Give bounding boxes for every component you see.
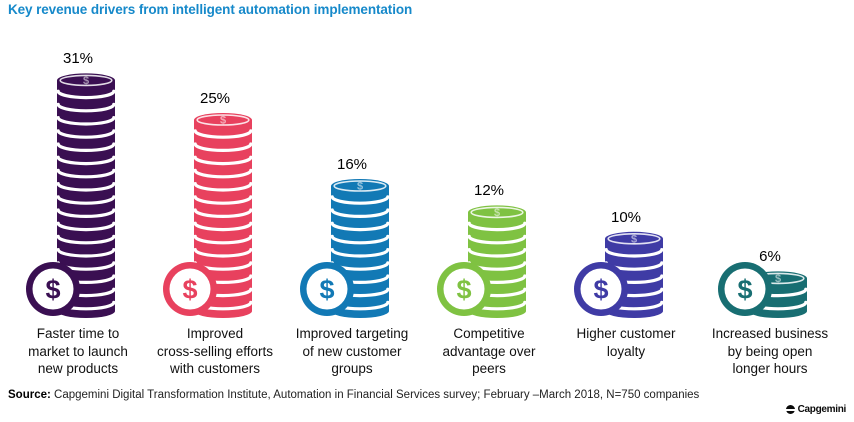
source-label: Source: — [8, 389, 51, 401]
coin-stack-icon: $$ — [8, 22, 148, 322]
category-label-line: cross-selling efforts — [142, 343, 288, 361]
category-label-line: groups — [279, 360, 425, 378]
category-label-line: Improved — [142, 325, 288, 343]
coin-stack: $$ — [8, 22, 148, 322]
svg-text:$: $ — [737, 275, 752, 305]
category-label-line: Faster time to — [5, 325, 151, 343]
coin-stack-icon: $$ — [700, 22, 840, 322]
bar-increased-business-hours: 6%$$ — [700, 22, 840, 322]
coin-stack-icon: $$ — [419, 22, 559, 322]
svg-text:$: $ — [456, 275, 471, 305]
coin-stack: $$ — [419, 22, 559, 322]
category-label-line: by being open — [697, 343, 843, 361]
plot-area: 31%$$25%$$16%$$12%$$10%$$6%$$ — [0, 22, 854, 322]
coin-stack: $$ — [700, 22, 840, 322]
capgemini-logo: Capgemini — [786, 404, 846, 415]
category-label: Improved targetingof new customergroups — [279, 325, 425, 378]
category-label-line: peers — [416, 360, 562, 378]
page-title: Key revenue drivers from intelligent aut… — [8, 2, 412, 17]
category-label-line: Competitive — [416, 325, 562, 343]
source-footnote: Source: Capgemini Digital Transformation… — [8, 389, 699, 401]
chart-root: Key revenue drivers from intelligent aut… — [0, 0, 854, 422]
coin-stack-icon: $$ — [556, 22, 696, 322]
category-label-line: loyalty — [553, 343, 699, 361]
coin-stack: $$ — [556, 22, 696, 322]
category-label-line: with customers — [142, 360, 288, 378]
coin-stack-icon: $$ — [282, 22, 422, 322]
category-label-line: Increased business — [697, 325, 843, 343]
svg-text:$: $ — [593, 275, 608, 305]
category-label: Improvedcross-selling effortswith custom… — [142, 325, 288, 378]
category-label: Higher customerloyalty — [553, 325, 699, 360]
svg-text:$: $ — [319, 275, 334, 305]
svg-text:$: $ — [45, 275, 60, 305]
bar-faster-time-to-market: 31%$$ — [8, 22, 148, 322]
category-label-line: advantage over — [416, 343, 562, 361]
category-label-row: Faster time tomarket to launchnew produc… — [0, 325, 854, 385]
category-label-line: market to launch — [5, 343, 151, 361]
capgemini-logo-text: Capgemini — [798, 404, 846, 415]
category-label-line: new products — [5, 360, 151, 378]
category-label: Faster time tomarket to launchnew produc… — [5, 325, 151, 378]
bar-improved-cross-selling: 25%$$ — [145, 22, 285, 322]
category-label-line: Improved targeting — [279, 325, 425, 343]
category-label-line: longer hours — [697, 360, 843, 378]
svg-text:$: $ — [182, 275, 197, 305]
category-label-line: Higher customer — [553, 325, 699, 343]
bar-competitive-advantage: 12%$$ — [419, 22, 559, 322]
coin-stack-icon: $$ — [145, 22, 285, 322]
capgemini-logo-icon — [786, 405, 795, 414]
category-label-line: of new customer — [279, 343, 425, 361]
coin-stack: $$ — [282, 22, 422, 322]
source-text: Capgemini Digital Transformation Institu… — [51, 389, 699, 401]
bar-higher-customer-loyalty: 10%$$ — [556, 22, 696, 322]
category-label: Increased businessby being openlonger ho… — [697, 325, 843, 378]
bar-improved-targeting: 16%$$ — [282, 22, 422, 322]
coin-stack: $$ — [145, 22, 285, 322]
category-label: Competitiveadvantage overpeers — [416, 325, 562, 378]
